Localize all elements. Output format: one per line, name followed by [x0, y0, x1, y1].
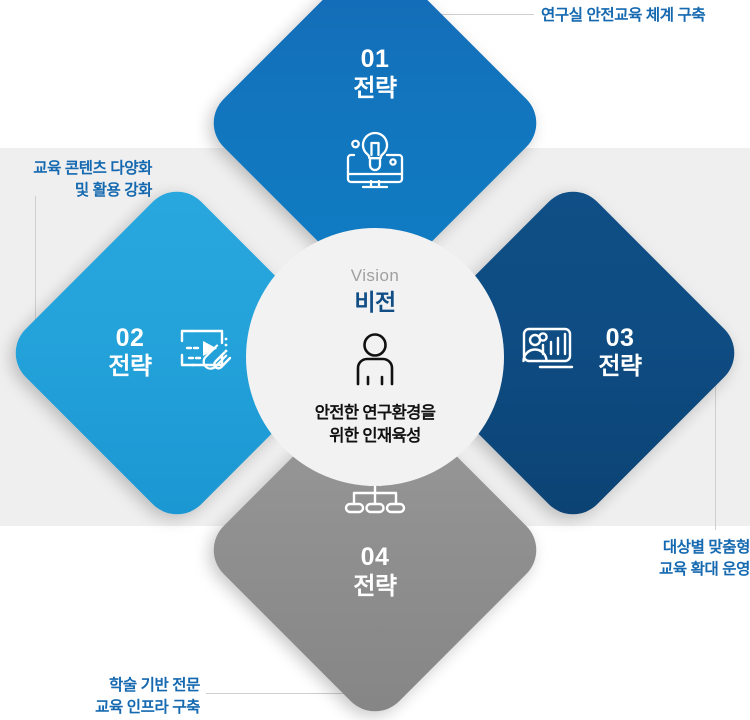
connector-line-04 — [206, 693, 365, 695]
vision-description: 안전한 연구환경을 위한 인재육성 — [315, 402, 436, 447]
callout-label-03: 대상별 맞춤형 교육 확대 운영 — [630, 537, 750, 581]
vision-circle: Vision 비전 안전한 연구환경을 위한 인재육성 — [246, 228, 504, 486]
connector-line-03 — [715, 363, 717, 530]
callout-label-01: 연구실 안전교육 체계 구축 — [541, 5, 705, 27]
callout-label-04: 학술 기반 전문 교육 인프라 구축 — [40, 675, 200, 719]
vision-en-label: Vision — [351, 267, 399, 286]
vision-ko-label: 비전 — [354, 289, 395, 317]
infographic-canvas: 연구실 안전교육 체계 구축 교육 콘텐츠 다양화 및 활용 강화 대상별 맞춤… — [0, 0, 750, 720]
person-icon — [348, 332, 402, 393]
callout-label-02: 교육 콘텐츠 다양화 및 활용 강화 — [0, 158, 152, 202]
strategy-card-01[interactable]: 01 전략 — [251, 0, 499, 247]
